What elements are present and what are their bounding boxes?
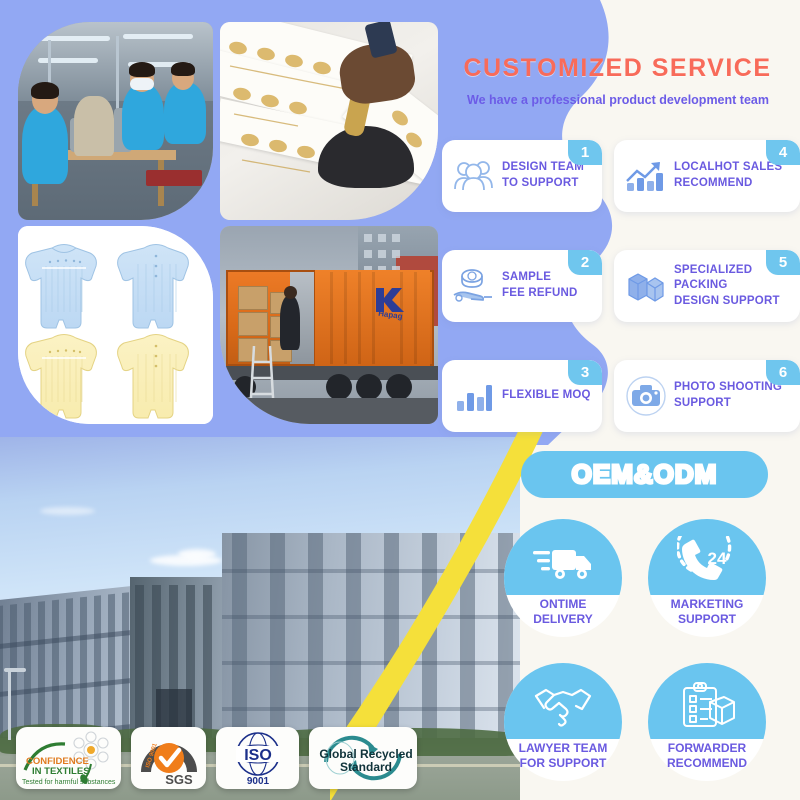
card-label: SAMPLEFEE REFUND (497, 270, 581, 301)
oem-item-marketing-support[interactable]: 24 MARKETINGSUPPORT (648, 519, 766, 637)
street-lamp-pole (8, 670, 11, 740)
frame-post (116, 36, 119, 116)
ceiling-lamp (30, 36, 110, 41)
oem-item-label: LAWYER TEAMFOR SUPPORT (504, 741, 622, 771)
oem-item-label: ONTIMEDELIVERY (504, 597, 622, 627)
worker-hair (171, 62, 195, 76)
certification-iso-9001: ISO 9001 (216, 727, 299, 789)
card-number-badge: 4 (766, 140, 800, 165)
card-label: FLEXIBLE MOQ (497, 388, 595, 404)
service-card-photo-shooting[interactable]: 6 PHOTO SHOOTINGSUPPORT (614, 360, 800, 432)
oem-item-label: MARKETINGSUPPORT (648, 597, 766, 627)
service-card-localhot-sales[interactable]: 4 LOCALHOT SALESRECOMMEND (614, 140, 800, 212)
worker-arm (74, 96, 114, 156)
cloud (178, 549, 216, 559)
grs-line2: Standard (340, 760, 392, 774)
oem-odm-badge: OEM&ODM (521, 451, 768, 498)
oem-item-forwarder-recommend[interactable]: FORWARDERRECOMMEND (648, 663, 766, 781)
card-number-badge: 5 (766, 250, 800, 275)
growth-chart-icon (623, 153, 669, 199)
grs-graphic: Global Recycled Standard (310, 728, 416, 788)
svg-text:24: 24 (708, 549, 727, 568)
card-number-badge: 6 (766, 360, 800, 385)
card-number-badge: 2 (568, 250, 602, 275)
ground (220, 398, 438, 424)
photo-sewing-factory (18, 22, 213, 220)
card-number-badge: 3 (568, 360, 602, 385)
photo-romper-sketches (18, 226, 213, 424)
photo-container-loading: Hapag (220, 226, 438, 424)
clipboard-package-icon (648, 671, 766, 739)
face-mask (130, 78, 154, 90)
phone-24h-icon: 24 (648, 527, 766, 595)
oeko-tex-graphic: CONFIDENCE IN TEXTILES Tested for harmfu… (17, 728, 120, 788)
certification-sgs: ISO 9001 SGS (131, 727, 206, 789)
people-group-icon (451, 153, 497, 199)
oem-item-ontime-delivery[interactable]: ONTIMEDELIVERY (504, 519, 622, 637)
sgs-graphic: ISO 9001 SGS (133, 728, 205, 788)
bar-chart-icon (451, 373, 497, 419)
grs-line1: Global Recycled (319, 747, 412, 761)
worker (122, 84, 164, 150)
service-card-flexible-moq[interactable]: 3 FLEXIBLE MOQ (442, 360, 602, 432)
delivery-truck-icon (504, 527, 622, 595)
service-card-sample-fee-refund[interactable]: 2 SAMPLEFEE REFUND (442, 250, 602, 322)
card-label: DESIGN TEAMTO SUPPORT (497, 160, 588, 191)
page-subtitle: We have a professional product developme… (437, 93, 799, 107)
worker-head (284, 286, 297, 299)
certification-global-recycled-standard: Global Recycled Standard (309, 727, 417, 789)
page-title: CUSTOMIZED SERVICE (440, 54, 795, 83)
street-lamp-head (4, 668, 26, 672)
ceiling-lamp (38, 58, 98, 63)
worker-hair (31, 82, 59, 99)
oeko-line3: Tested for harmful substances (22, 779, 116, 786)
loading-worker (280, 296, 300, 350)
handshake-icon (504, 671, 622, 739)
oeko-line2: IN TEXTILES (32, 766, 90, 777)
stool (146, 170, 202, 186)
oem-odm-label: OEM&ODM (572, 459, 718, 490)
worker-hair (129, 62, 155, 77)
worker (164, 82, 206, 144)
card-label: PHOTO SHOOTINGSUPPORT (669, 380, 786, 411)
sgs-text: SGS (165, 772, 193, 787)
money-hand-icon (451, 263, 497, 309)
camera-icon (623, 373, 669, 419)
cloud (40, 507, 95, 515)
iso-text: ISO (244, 747, 272, 764)
oem-item-lawyer-team[interactable]: LAWYER TEAMFOR SUPPORT (504, 663, 622, 781)
iso-graphic: ISO 9001 (218, 728, 298, 788)
romper-sketch-set (18, 226, 213, 424)
service-card-design-team[interactable]: 1 DESIGN TEAMTO SUPPORT (442, 140, 602, 212)
worker (22, 106, 68, 184)
service-card-specialized-packing[interactable]: 5 SPECIALIZED PACKINGDESIGN SUPPORT (614, 250, 800, 322)
iso-number: 9001 (246, 776, 269, 787)
ceiling-lamp (123, 34, 193, 39)
boxes-icon (623, 263, 669, 309)
oem-item-label: FORWARDERRECOMMEND (648, 741, 766, 771)
card-number-badge: 1 (568, 140, 602, 165)
card-label: LOCALHOT SALESRECOMMEND (669, 160, 786, 191)
certification-oeko-tex: CONFIDENCE IN TEXTILES Tested for harmfu… (16, 727, 121, 789)
photo-fabric-ironing (220, 22, 438, 220)
